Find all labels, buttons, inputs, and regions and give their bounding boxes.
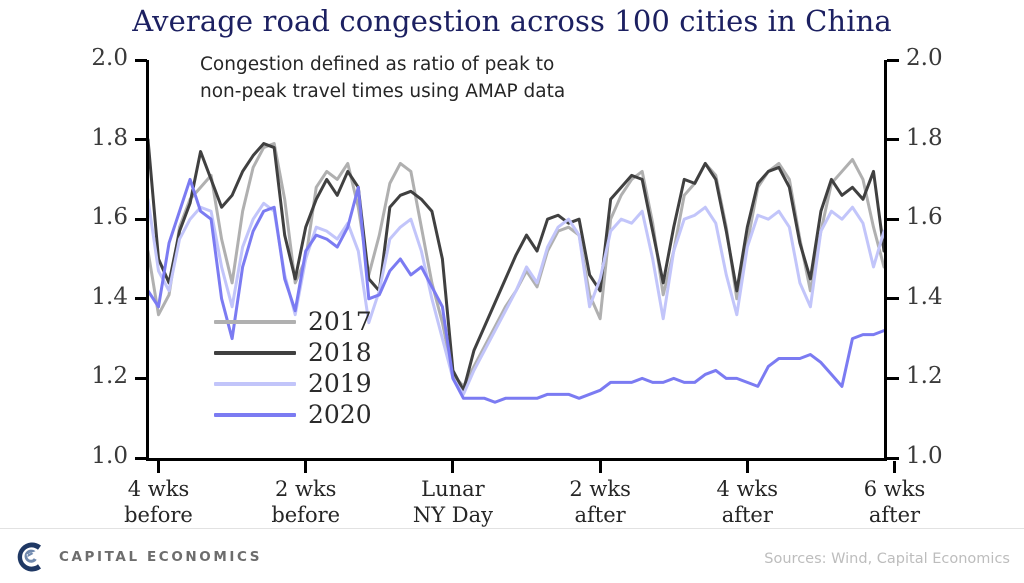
- legend-label-2020: 2020: [308, 402, 372, 427]
- x-axis-label-28: 4 wksafter: [677, 476, 817, 529]
- c-e-monogram-icon: [10, 538, 48, 576]
- y-axis-label-1.8: 1.8: [68, 125, 128, 151]
- y-tick-left-1.4: [135, 297, 147, 300]
- x-axis-label--28: 4 wksbefore: [89, 476, 229, 529]
- y-axis-left: [146, 60, 149, 459]
- x-axis-label-line1: Lunar: [383, 476, 523, 502]
- capital-economics-logo: CAPITAL ECONOMICS: [10, 538, 262, 576]
- x-axis-label-line2: after: [825, 502, 965, 528]
- x-tick-0: [451, 461, 454, 473]
- y-axis-label-right-2.0: 2.0: [906, 45, 966, 71]
- x-axis-label-line2: before: [236, 502, 376, 528]
- legend-item-2019[interactable]: 2019: [214, 368, 372, 399]
- y-axis-label-1.4: 1.4: [68, 284, 128, 310]
- y-tick-right-1.4: [887, 297, 899, 300]
- y-axis-label-right-1.2: 1.2: [906, 363, 966, 389]
- y-axis-label-right-1.4: 1.4: [906, 284, 966, 310]
- footer-divider: [0, 528, 1024, 529]
- x-tick--14: [304, 461, 307, 473]
- y-tick-right-1.2: [887, 377, 899, 380]
- x-axis-label--14: 2 wksbefore: [236, 476, 376, 529]
- y-tick-right-2.0: [887, 59, 899, 62]
- y-tick-left-1.6: [135, 218, 147, 221]
- sources-note: Sources: Wind, Capital Economics: [764, 551, 1010, 567]
- y-axis-label-right-1.8: 1.8: [906, 125, 966, 151]
- y-axis-label-1.0: 1.0: [68, 443, 128, 469]
- legend-item-2017[interactable]: 2017: [214, 306, 372, 337]
- legend-label-2018: 2018: [308, 340, 372, 365]
- x-axis-label-line1: 2 wks: [236, 476, 376, 502]
- legend-swatch-2018: [214, 351, 296, 355]
- x-tick-14: [599, 461, 602, 473]
- y-tick-right-1.0: [887, 457, 899, 460]
- x-tick--28: [157, 461, 160, 473]
- y-tick-left-1.8: [135, 138, 147, 141]
- y-tick-right-1.8: [887, 138, 899, 141]
- legend-swatch-2020: [214, 413, 296, 417]
- y-tick-left-1.2: [135, 377, 147, 380]
- legend-label-2019: 2019: [308, 371, 372, 396]
- x-tick-42: [893, 461, 896, 473]
- y-axis-label-right-1.0: 1.0: [906, 443, 966, 469]
- x-axis-label-line1: 4 wks: [89, 476, 229, 502]
- y-axis-label-1.6: 1.6: [68, 204, 128, 230]
- chart-legend: 2017201820192020: [214, 306, 372, 430]
- x-axis: [146, 458, 887, 461]
- y-tick-left-2.0: [135, 59, 147, 62]
- legend-label-2017: 2017: [308, 309, 372, 334]
- legend-swatch-2019: [214, 382, 296, 386]
- x-axis-label-line1: 4 wks: [677, 476, 817, 502]
- y-tick-left-1.0: [135, 457, 147, 460]
- legend-item-2020[interactable]: 2020: [214, 399, 372, 430]
- logo-wordmark: CAPITAL ECONOMICS: [59, 549, 262, 565]
- legend-item-2018[interactable]: 2018: [214, 337, 372, 368]
- y-tick-right-1.6: [887, 218, 899, 221]
- x-axis-label-line2: after: [530, 502, 670, 528]
- y-axis-right: [884, 60, 887, 459]
- y-axis-label-1.2: 1.2: [68, 363, 128, 389]
- x-axis-label-0: LunarNY Day: [383, 476, 523, 529]
- logo-mark-icon: [10, 538, 48, 576]
- x-axis-label-14: 2 wksafter: [530, 476, 670, 529]
- x-axis-label-42: 6 wksafter: [825, 476, 965, 529]
- page-title: Average road congestion across 100 citie…: [0, 4, 1024, 38]
- y-axis-label-right-1.6: 1.6: [906, 204, 966, 230]
- y-axis-label-2.0: 2.0: [68, 45, 128, 71]
- x-axis-label-line1: 6 wks: [825, 476, 965, 502]
- x-axis-label-line2: NY Day: [383, 502, 523, 528]
- x-axis-label-line1: 2 wks: [530, 476, 670, 502]
- legend-swatch-2017: [214, 320, 296, 324]
- x-axis-label-line2: after: [677, 502, 817, 528]
- x-tick-28: [746, 461, 749, 473]
- x-axis-label-line2: before: [89, 502, 229, 528]
